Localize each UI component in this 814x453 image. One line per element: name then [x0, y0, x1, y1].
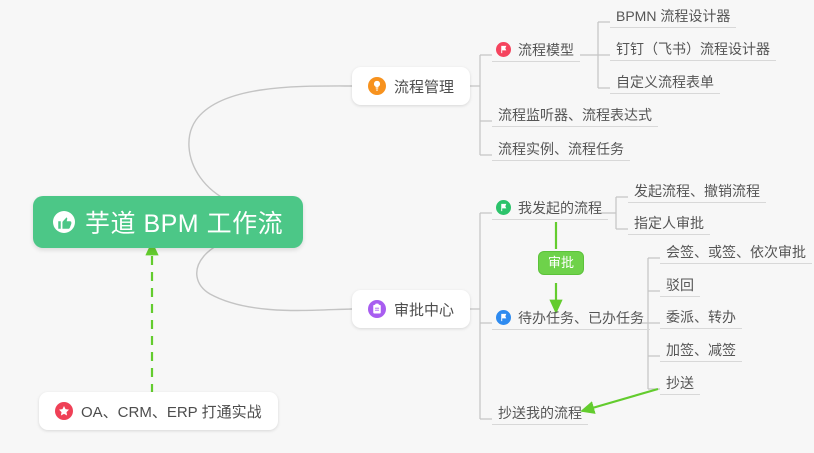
mindmap-canvas: 芋道 BPM 工作流 流程管理 流程模型 流程监听器、流程表达式 流程实例、流程… — [0, 0, 814, 453]
approval-tag-label: 审批 — [548, 255, 574, 270]
node-label: 抄送我的流程 — [498, 406, 582, 420]
node-label: 发起流程、撤销流程 — [634, 184, 760, 198]
node-process-model[interactable]: 流程模型 — [492, 42, 580, 62]
node-carbon-copy[interactable]: 抄送 — [660, 376, 700, 395]
node-countersign[interactable]: 会签、或签、依次审批 — [660, 245, 812, 264]
node-assignee-approval[interactable]: 指定人审批 — [628, 216, 710, 235]
branch-node-process-management[interactable]: 流程管理 — [352, 67, 470, 105]
branch-label: 审批中心 — [394, 299, 454, 320]
node-bpmn-designer[interactable]: BPMN 流程设计器 — [610, 9, 736, 28]
node-label: 钉钉（飞书）流程设计器 — [616, 42, 770, 56]
node-label: BPMN 流程设计器 — [616, 9, 730, 23]
flag-icon — [496, 200, 511, 215]
node-label: 会签、或签、依次审批 — [666, 245, 806, 259]
integration-note-label: OA、CRM、ERP 打通实战 — [81, 401, 262, 422]
node-custom-form[interactable]: 自定义流程表单 — [610, 75, 720, 94]
node-add-remove-sign[interactable]: 加签、减签 — [660, 343, 742, 362]
node-label: 我发起的流程 — [518, 201, 602, 215]
node-label: 加签、减签 — [666, 343, 736, 357]
node-reject[interactable]: 驳回 — [660, 278, 700, 297]
node-label: 流程模型 — [518, 43, 574, 57]
node-label: 自定义流程表单 — [616, 75, 714, 89]
root-label: 芋道 BPM 工作流 — [85, 204, 283, 240]
node-process-listener[interactable]: 流程监听器、流程表达式 — [492, 108, 658, 127]
node-todo-done-tasks[interactable]: 待办任务、已办任务 — [492, 310, 650, 330]
clipboard-icon — [368, 300, 386, 318]
flag-icon — [496, 42, 511, 57]
integration-note-node[interactable]: OA、CRM、ERP 打通实战 — [39, 392, 278, 430]
node-label: 流程实例、流程任务 — [498, 142, 624, 156]
node-dingtalk-designer[interactable]: 钉钉（飞书）流程设计器 — [610, 42, 776, 61]
node-label: 驳回 — [666, 278, 694, 292]
branch-label: 流程管理 — [394, 76, 454, 97]
star-icon — [55, 402, 73, 420]
flag-icon — [496, 310, 511, 325]
node-label: 指定人审批 — [634, 216, 704, 230]
node-process-instance[interactable]: 流程实例、流程任务 — [492, 142, 630, 161]
root-node[interactable]: 芋道 BPM 工作流 — [33, 196, 303, 248]
node-cc-to-me[interactable]: 抄送我的流程 — [492, 406, 588, 425]
node-label: 流程监听器、流程表达式 — [498, 108, 652, 122]
node-label: 委派、转办 — [666, 310, 736, 324]
node-delegate-transfer[interactable]: 委派、转办 — [660, 310, 742, 329]
node-label: 抄送 — [666, 376, 694, 390]
node-label: 待办任务、已办任务 — [518, 311, 644, 325]
lightbulb-icon — [368, 77, 386, 95]
thumbs-up-icon — [53, 211, 75, 233]
approval-annotation-tag[interactable]: 审批 — [538, 251, 584, 275]
node-my-initiated[interactable]: 我发起的流程 — [492, 200, 608, 220]
node-start-cancel-process[interactable]: 发起流程、撤销流程 — [628, 184, 766, 203]
branch-node-approval-center[interactable]: 审批中心 — [352, 290, 470, 328]
